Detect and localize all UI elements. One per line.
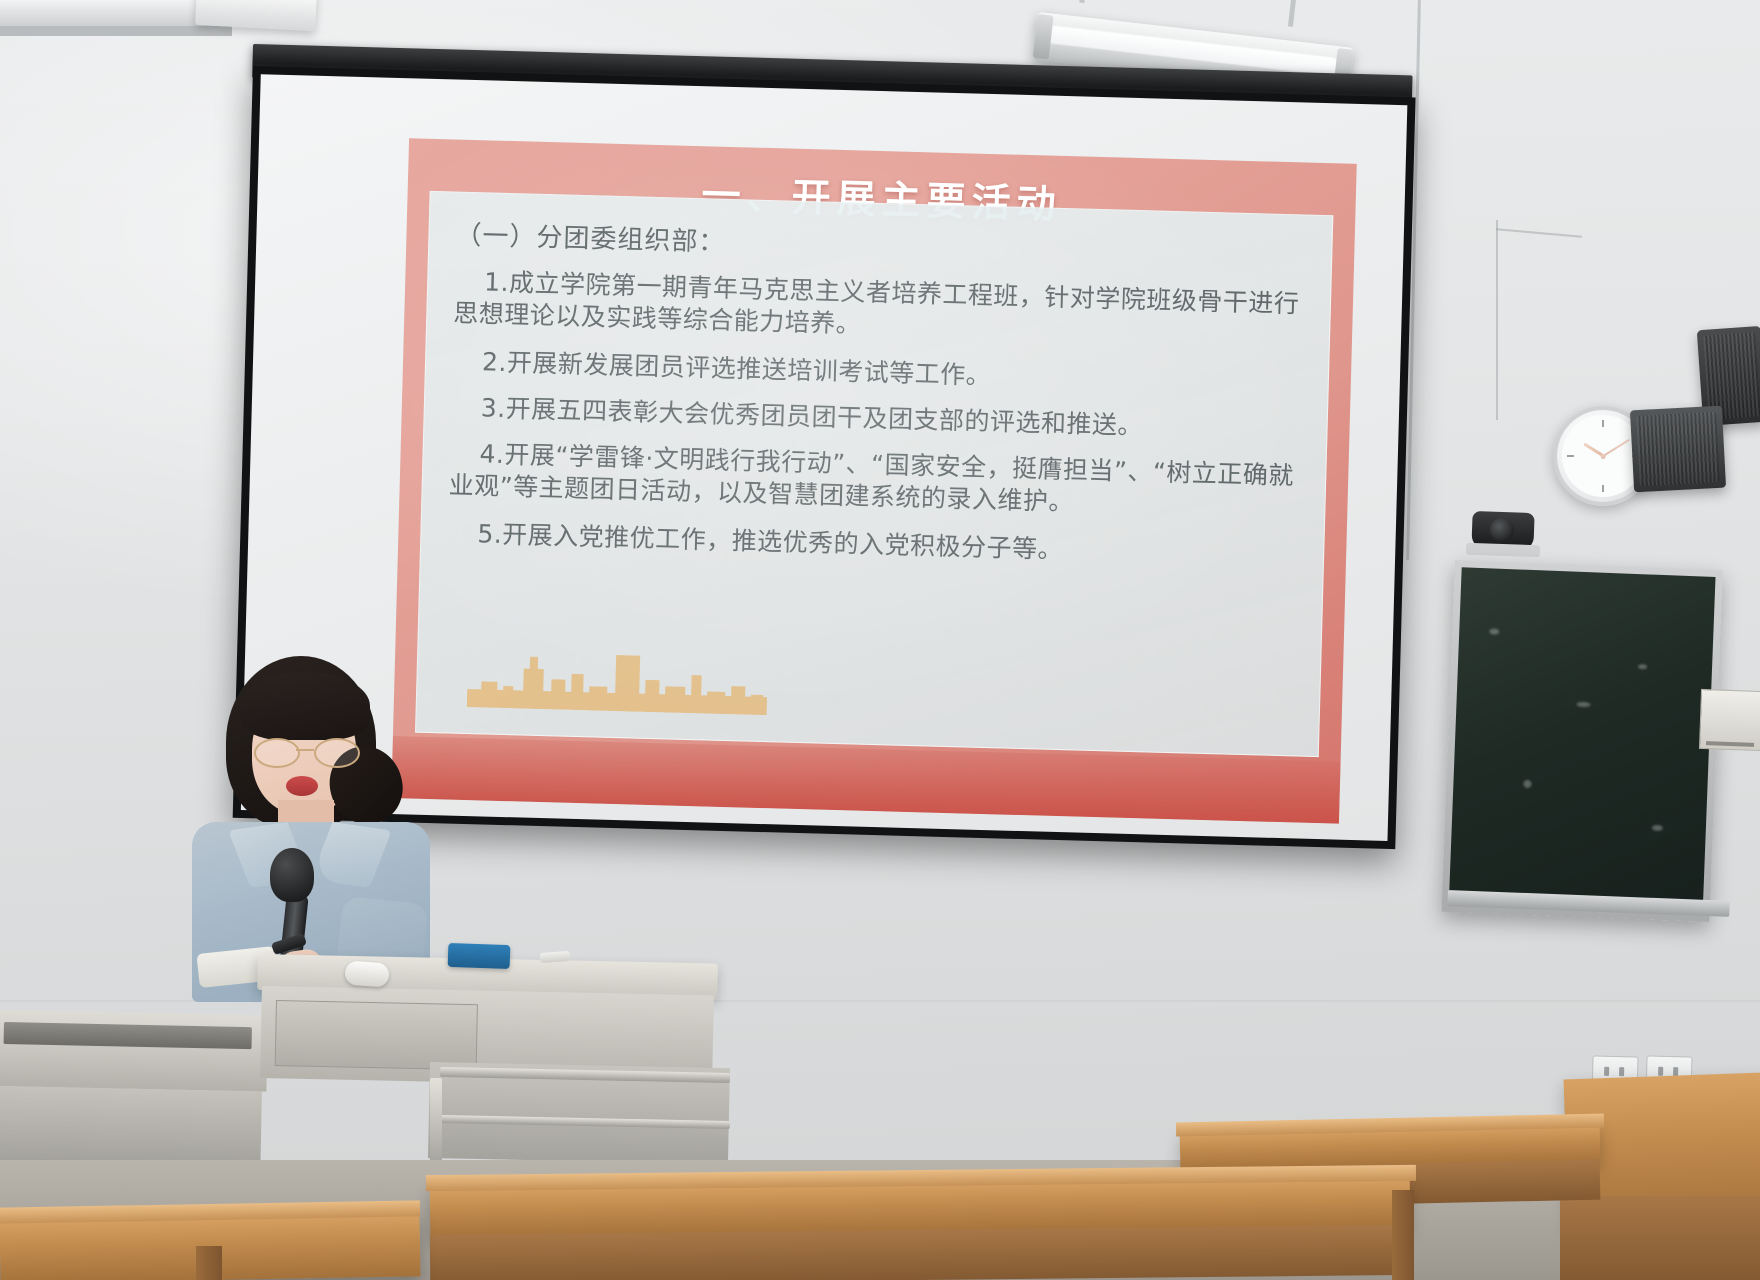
slide-bullet-4: 4.开展“学雷锋·文明践行我行动”、“国家安全，挺膺担当”、“树立正确就业观”等…: [448, 437, 1301, 524]
bench-leg: [1392, 1190, 1414, 1280]
clock-tick: [1602, 420, 1604, 427]
city-skyline-graphic: [467, 637, 769, 715]
bench-leg: [196, 1246, 222, 1280]
chalk-mark: [1652, 825, 1663, 831]
speaker-grille: [1636, 412, 1720, 486]
slide-bullet-2: 2.开展新发展团员评选推送培训考试等工作。: [452, 345, 1305, 400]
slide-body: （一）分团委组织部： 1.成立学院第一期青年马克思主义者培养工程班，针对学院班级…: [447, 211, 1308, 589]
eyeglasses-icon: [254, 738, 356, 764]
blackboard: [1441, 560, 1722, 922]
blackboard-surface: [1449, 567, 1716, 915]
slide-bullet-3: 3.开展五四表彰大会优秀团员团干及团支部的评选和推送。: [450, 391, 1303, 446]
clock-tick: [1567, 455, 1574, 457]
bench-base: [1560, 1196, 1760, 1280]
clock-center-pin: [1600, 454, 1606, 460]
light-suspension-rod: [1079, 0, 1088, 3]
slide-bullet-1: 1.成立学院第一期青年马克思主义者培养工程班，针对学院班级骨干进行思想理论以及实…: [453, 266, 1306, 353]
eyeglass-lens: [254, 738, 300, 768]
chalk-mark: [1576, 702, 1590, 708]
chalk-mark: [1523, 780, 1531, 788]
ceiling-soffit-shadow: [0, 26, 232, 36]
smartphone[interactable]: [448, 943, 511, 969]
presenter-hair-fringe: [240, 672, 370, 740]
projector-bracket: [1466, 543, 1540, 558]
chalk-mark: [1638, 664, 1647, 669]
presentation-slide: 一、开展主要活动 （一）分团委组织部： 1.成立学院第一期青年马克思主义者培养工…: [391, 138, 1357, 823]
eyeglass-lens: [314, 738, 360, 768]
projector-lens-icon: [1490, 518, 1514, 542]
clock-minute-hand: [1602, 439, 1629, 457]
presenter: [178, 650, 438, 990]
microphone-icon: [270, 848, 314, 902]
podium-front-panel: [275, 1000, 478, 1070]
slide-bullet-5: 5.开展入党推优工作，推选优秀的入党积极分子等。: [447, 517, 1300, 572]
slide-content-panel: （一）分团委组织部： 1.成立学院第一期青年马克思主义者培养工程班，针对学院班级…: [415, 191, 1333, 757]
slide-section-heading: （一）分团委组织部：: [455, 215, 1308, 275]
presenter-lips: [286, 776, 318, 796]
wall-conduit: [1496, 220, 1498, 420]
chalk-mark: [1489, 628, 1499, 634]
clock-tick: [1602, 485, 1604, 492]
eyeglass-bridge: [296, 749, 314, 751]
marker-pen[interactable]: [540, 951, 571, 963]
bench-apron: [430, 1225, 1410, 1280]
classroom-photo: 一、开展主要活动 （一）分团委组织部： 1.成立学院第一期青年马克思主义者培养工…: [0, 0, 1760, 1280]
computer-mouse[interactable]: [344, 960, 390, 987]
wall-speaker-icon: [1630, 406, 1726, 493]
